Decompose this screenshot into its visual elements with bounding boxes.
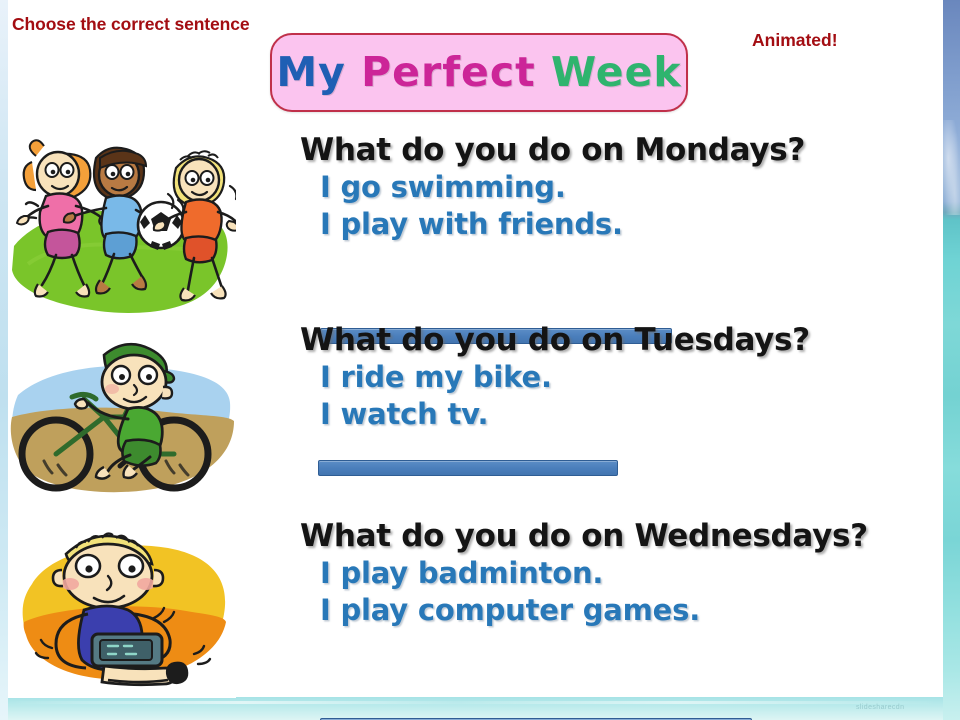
- right-edge-sky-sea-strip: [943, 0, 960, 720]
- watermark-text: slidesharecdn: [856, 704, 904, 711]
- answer-option-tuesdays-1[interactable]: I ride my bike.: [320, 359, 810, 396]
- illustration-children-playing-football: [8, 128, 236, 318]
- question-text-wednesdays: What do you do on Wednesdays?: [300, 518, 868, 555]
- answers-wednesdays: I play badminton. I play computer games.: [300, 555, 868, 629]
- answers-tuesdays: I ride my bike. I watch tv.: [300, 359, 810, 433]
- question-block-wednesdays: What do you do on Wednesdays? I play bad…: [300, 518, 868, 629]
- slide-canvas: slidesharecdn Choose the correct sentenc…: [0, 0, 960, 720]
- answer-option-wednesdays-1[interactable]: I play badminton.: [320, 555, 868, 592]
- title-word-perfect: Perfect: [361, 48, 536, 96]
- question-block-tuesdays: What do you do on Tuesdays? I ride my bi…: [300, 322, 810, 433]
- instruction-text: Choose the correct sentence: [12, 14, 250, 35]
- illustration-boy-playing-computer-game: [8, 518, 236, 698]
- answer-option-tuesdays-2[interactable]: I watch tv.: [320, 396, 810, 433]
- title-box: My Perfect Week: [270, 33, 688, 112]
- page-title: My Perfect Week: [276, 52, 681, 93]
- question-text-tuesdays: What do you do on Tuesdays?: [300, 322, 810, 359]
- question-block-mondays: What do you do on Mondays? I go swimming…: [300, 132, 805, 243]
- answer-option-mondays-2[interactable]: I play with friends.: [320, 206, 805, 243]
- answers-mondays: I go swimming. I play with friends.: [300, 169, 805, 243]
- right-edge-clouds: [943, 120, 960, 215]
- answer-option-mondays-1[interactable]: I go swimming.: [320, 169, 805, 206]
- title-word-week: Week: [551, 48, 682, 96]
- question-text-mondays: What do you do on Mondays?: [300, 132, 805, 169]
- title-word-my: My: [276, 48, 346, 96]
- animated-label: Animated!: [752, 30, 838, 51]
- answer-option-wednesdays-2[interactable]: I play computer games.: [320, 592, 868, 629]
- illustration-boy-riding-bicycle: [8, 325, 236, 510]
- selection-bar-tuesdays[interactable]: [318, 460, 618, 476]
- bottom-sea-band: [8, 697, 943, 720]
- left-edge-strip: [0, 0, 8, 720]
